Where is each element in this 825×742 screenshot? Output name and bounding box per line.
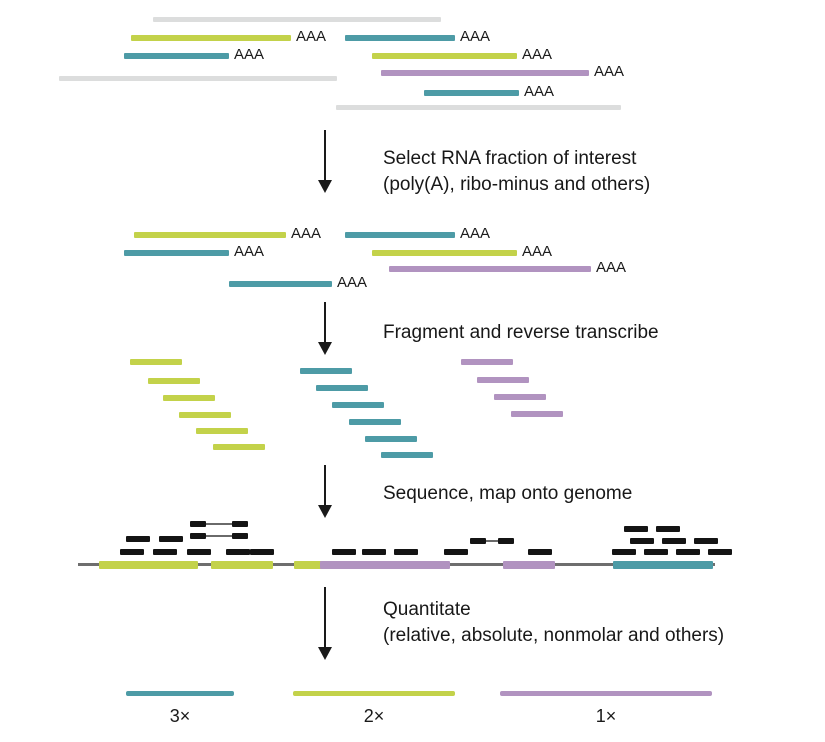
exon-green-1 [99,561,198,569]
cdna-fragment [148,378,200,384]
cdna-fragment [213,444,265,450]
cdna-fragment [381,452,433,458]
read-single [444,549,468,555]
step-label-quantitate-line2: (relative, absolute, nonmolar and others… [383,623,724,649]
read-single [120,549,144,555]
step-label-fragment-line1: Fragment and reverse transcribe [383,320,659,346]
read-single [630,538,654,544]
quant-green-bar [293,691,455,696]
cdna-fragment [365,436,417,442]
arrow-head-icon [318,647,332,660]
read-single [612,549,636,555]
arrow-head-icon [318,342,332,355]
cdna-fragment [130,359,182,365]
green-transcript-2 [372,53,517,59]
poly-a-tail-label: AAA [337,275,367,290]
read-single [187,549,211,555]
read-pair [498,538,514,544]
read-single [153,549,177,555]
read-pair [232,521,248,527]
poly-a-tail-label: AAA [234,244,264,259]
read-single [656,526,680,532]
poly-a-tail-label: AAA [234,47,264,62]
poly-a-tail-label: AAA [594,64,624,79]
quant-green-label: 2× [293,707,455,725]
read-pair [470,538,486,544]
step-label-quantitate: Quantitate (relative, absolute, nonmolar… [383,597,724,649]
gray-reference-1 [153,17,441,22]
step-label-sequence: Sequence, map onto genome [383,481,632,507]
green-transcript-1 [131,35,291,41]
arrow-fragment [318,302,332,354]
read-single [694,538,718,544]
read-single [226,549,250,555]
poly-a-tail-label: AAA [524,84,554,99]
arrow-select [318,130,332,192]
read-pair [190,533,206,539]
exon-green-2 [211,561,273,569]
read-single [644,549,668,555]
read-single [394,549,418,555]
read-single [624,526,648,532]
read-single [662,538,686,544]
cdna-fragment [477,377,529,383]
cdna-fragment [300,368,352,374]
cdna-fragment [179,412,231,418]
cdna-fragment [332,402,384,408]
poly-a-tail-label: AAA [522,47,552,62]
poly-a-tail-label: AAA [291,226,321,241]
arrow-shaft [324,587,326,648]
rnaseq-workflow-figure: AAAAAAAAAAAAAAAAAA Select RNA fraction o… [0,0,825,742]
step-label-sequence-line1: Sequence, map onto genome [383,481,632,507]
read-pair [190,521,206,527]
arrow-head-icon [318,180,332,193]
arrow-quantitate [318,587,332,659]
read-single [708,549,732,555]
quant-purple-label: 1× [500,707,712,725]
read-single [676,549,700,555]
cdna-fragment [163,395,215,401]
exon-purple-2 [503,561,555,569]
purple-transcript-1 [389,266,591,272]
read-single [362,549,386,555]
quant-purple-bar [500,691,712,696]
green-transcript-1 [134,232,286,238]
step-label-fragment: Fragment and reverse transcribe [383,320,659,346]
arrow-shaft [324,302,326,343]
quant-teal-label: 3× [126,707,234,725]
teal-transcript-3 [229,281,332,287]
quant-teal-bar [126,691,234,696]
read-single [159,536,183,542]
cdna-fragment [461,359,513,365]
read-single [250,549,274,555]
read-single [528,549,552,555]
step-label-select-line1: Select RNA fraction of interest [383,146,650,172]
cdna-fragment [316,385,368,391]
read-single [126,536,150,542]
poly-a-tail-label: AAA [460,226,490,241]
poly-a-tail-label: AAA [296,29,326,44]
step-label-select-line2: (poly(A), ribo-minus and others) [383,172,650,198]
cdna-fragment [349,419,401,425]
exon-purple-1 [320,561,450,569]
step-label-quantitate-line1: Quantitate [383,597,724,623]
poly-a-tail-label: AAA [460,29,490,44]
arrow-shaft [324,465,326,506]
poly-a-tail-label: AAA [522,244,552,259]
exon-teal-1 [613,561,713,569]
gray-reference-3 [336,105,621,110]
cdna-fragment [511,411,563,417]
step-label-select: Select RNA fraction of interest (poly(A)… [383,146,650,198]
read-pair [232,533,248,539]
arrow-sequence [318,465,332,517]
teal-transcript-1 [345,35,455,41]
teal-transcript-2 [124,250,229,256]
gray-reference-2 [59,76,337,81]
arrow-shaft [324,130,326,181]
cdna-fragment [494,394,546,400]
teal-transcript-2 [124,53,229,59]
teal-transcript-3 [424,90,519,96]
read-single [332,549,356,555]
arrow-head-icon [318,505,332,518]
cdna-fragment [196,428,248,434]
poly-a-tail-label: AAA [596,260,626,275]
green-transcript-2 [372,250,517,256]
purple-transcript-1 [381,70,589,76]
teal-transcript-1 [345,232,455,238]
